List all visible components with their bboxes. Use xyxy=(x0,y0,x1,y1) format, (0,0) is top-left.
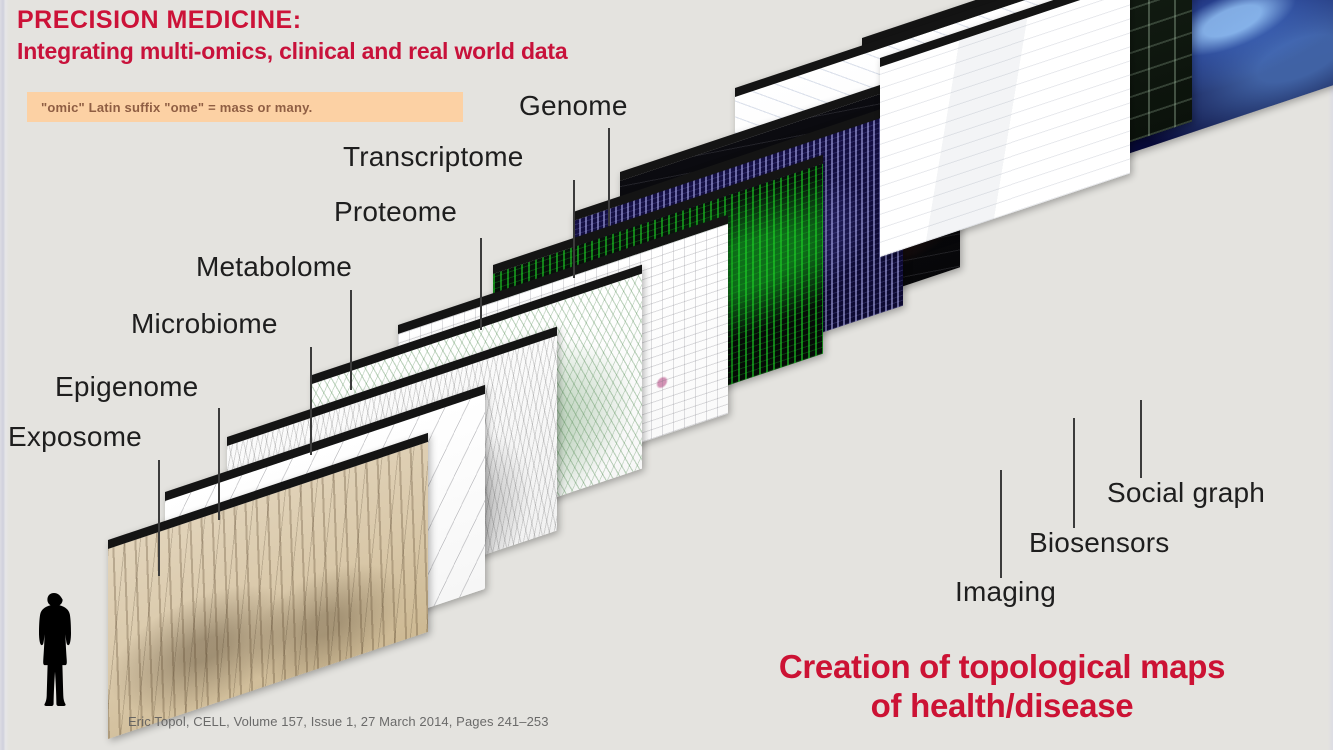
connector-imaging xyxy=(1000,470,1002,578)
tagline-line-1: Creation of topological maps xyxy=(687,648,1317,687)
connector-microbiome xyxy=(310,347,312,455)
layer-label-genome: Genome xyxy=(519,90,628,122)
layer-label-biosensors: Biosensors xyxy=(1029,527,1170,559)
layer-label-epigenome: Epigenome xyxy=(55,371,198,403)
layer-label-microbiome: Microbiome xyxy=(131,308,278,340)
connector-genome xyxy=(608,128,610,226)
film-edge-left xyxy=(0,0,9,750)
omic-definition-text: "omic" Latin suffix "ome" = mass or many… xyxy=(27,100,312,115)
connector-proteome xyxy=(480,238,482,330)
omic-definition-note: "omic" Latin suffix "ome" = mass or many… xyxy=(27,92,463,122)
layer-label-exposome: Exposome xyxy=(8,421,142,453)
connector-metabolome xyxy=(350,290,352,390)
layer-label-transcriptome: Transcriptome xyxy=(343,141,524,173)
layer-label-metabolome: Metabolome xyxy=(196,251,352,283)
human-silhouette-icon xyxy=(32,593,76,715)
connector-biosensors xyxy=(1073,418,1075,528)
film-edge-right xyxy=(1328,0,1333,750)
connector-transcriptome xyxy=(573,180,575,278)
slide-canvas: PRECISION MEDICINE: Integrating multi-om… xyxy=(0,0,1333,750)
connector-social-graph xyxy=(1140,400,1142,478)
layer-label-social-graph: Social graph xyxy=(1107,477,1265,509)
layer-label-imaging: Imaging xyxy=(955,576,1056,608)
slide-title: PRECISION MEDICINE: xyxy=(17,6,302,35)
tagline: Creation of topological maps of health/d… xyxy=(687,648,1317,726)
source-citation: Eric Topol, CELL, Volume 157, Issue 1, 2… xyxy=(128,714,549,729)
connector-epigenome xyxy=(218,408,220,520)
tagline-line-2: of health/disease xyxy=(687,687,1317,726)
connector-exposome xyxy=(158,460,160,576)
slide-subtitle: Integrating multi-omics, clinical and re… xyxy=(17,38,567,65)
layer-label-proteome: Proteome xyxy=(334,196,457,228)
